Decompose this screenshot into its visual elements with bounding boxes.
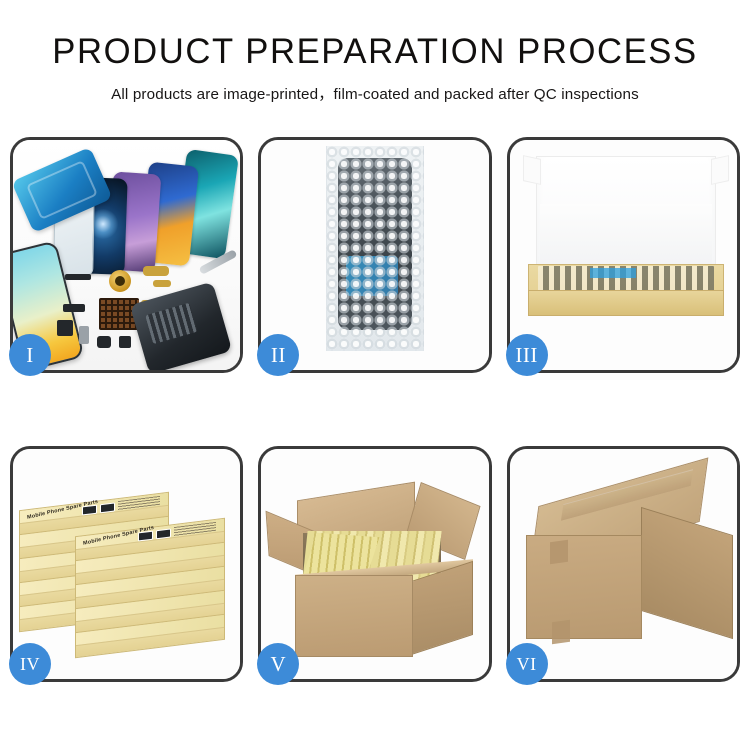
step-panel-3: III (507, 137, 740, 373)
part-strip (63, 304, 85, 312)
carton-tab (550, 540, 568, 565)
step-panel-5: V (258, 446, 491, 682)
part-block (57, 320, 73, 336)
step-image-6 (510, 449, 737, 679)
box-screen-image (138, 530, 153, 541)
kraft-tray-front (528, 290, 724, 316)
step-image-1 (13, 140, 240, 370)
flex-cable-part (143, 266, 169, 276)
carton-side-panel (641, 507, 733, 639)
box-stack: Mobile Phone Spare Parts Mobile Pho (19, 467, 231, 649)
part-strip (65, 274, 91, 280)
header: PRODUCT PREPARATION PROCESS All products… (0, 0, 750, 104)
part-block (119, 336, 131, 348)
process-step-grid: I II (10, 137, 740, 682)
step-panel-6: VI (507, 446, 740, 682)
step-badge-1: I (9, 334, 51, 376)
box-screen-image (82, 504, 97, 515)
box-screen-image (100, 502, 115, 513)
step-badge-6: VI (506, 643, 548, 685)
page-subtitle: All products are image-printed，film-coat… (0, 82, 750, 104)
bubble-highlight-layer (326, 146, 424, 351)
step-badge-3: III (506, 334, 548, 376)
carton-tab (552, 620, 570, 645)
foam-liner (540, 204, 712, 270)
carton-front-panel (295, 575, 413, 657)
carton-front-panel (526, 535, 642, 639)
flex-cable-part (153, 280, 171, 287)
step-image-4: Mobile Phone Spare Parts Mobile Pho (13, 449, 240, 679)
packed-products (538, 266, 714, 292)
step-image-5 (261, 449, 488, 679)
part-sim-tray (79, 326, 89, 344)
product-process-infographic: PRODUCT PREPARATION PROCESS All products… (0, 0, 750, 750)
page-title: PRODUCT PREPARATION PROCESS (4, 34, 747, 71)
step-badge-4: IV (9, 643, 51, 685)
step-image-2 (261, 140, 488, 370)
step-panel-1: I (10, 137, 243, 373)
box-screen-image (156, 528, 171, 539)
step-panel-2: II (258, 137, 491, 373)
step-panel-4: Mobile Phone Spare Parts Mobile Pho (10, 446, 243, 682)
part-block (97, 336, 111, 348)
speaker-part-icon (109, 270, 131, 292)
step-image-3 (510, 140, 737, 370)
